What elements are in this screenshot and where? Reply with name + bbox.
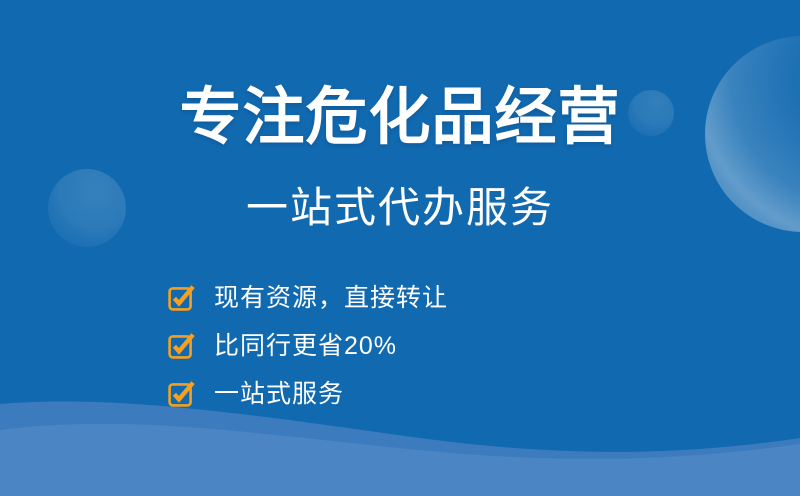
- checkbox-checked-icon: [168, 381, 194, 407]
- feature-list: 现有资源，直接转让 比同行更省20% 一站式: [168, 274, 598, 418]
- feature-item: 一站式服务: [168, 370, 598, 418]
- feature-label: 现有资源，直接转让: [214, 283, 448, 313]
- feature-item: 现有资源，直接转让: [168, 274, 598, 322]
- feature-item: 比同行更省20%: [168, 322, 598, 370]
- feature-label: 一站式服务: [214, 379, 344, 409]
- checkbox-checked-icon: [168, 333, 194, 359]
- banner-headline: 专注危化品经营: [0, 82, 800, 152]
- feature-label: 比同行更省20%: [214, 331, 397, 361]
- banner-subtitle: 一站式代办服务: [0, 184, 800, 232]
- banner-content: 专注危化品经营 一站式代办服务 现有资源，直接转让: [0, 0, 800, 496]
- promo-banner: 专注危化品经营 一站式代办服务 现有资源，直接转让: [0, 0, 800, 496]
- checkbox-checked-icon: [168, 285, 194, 311]
